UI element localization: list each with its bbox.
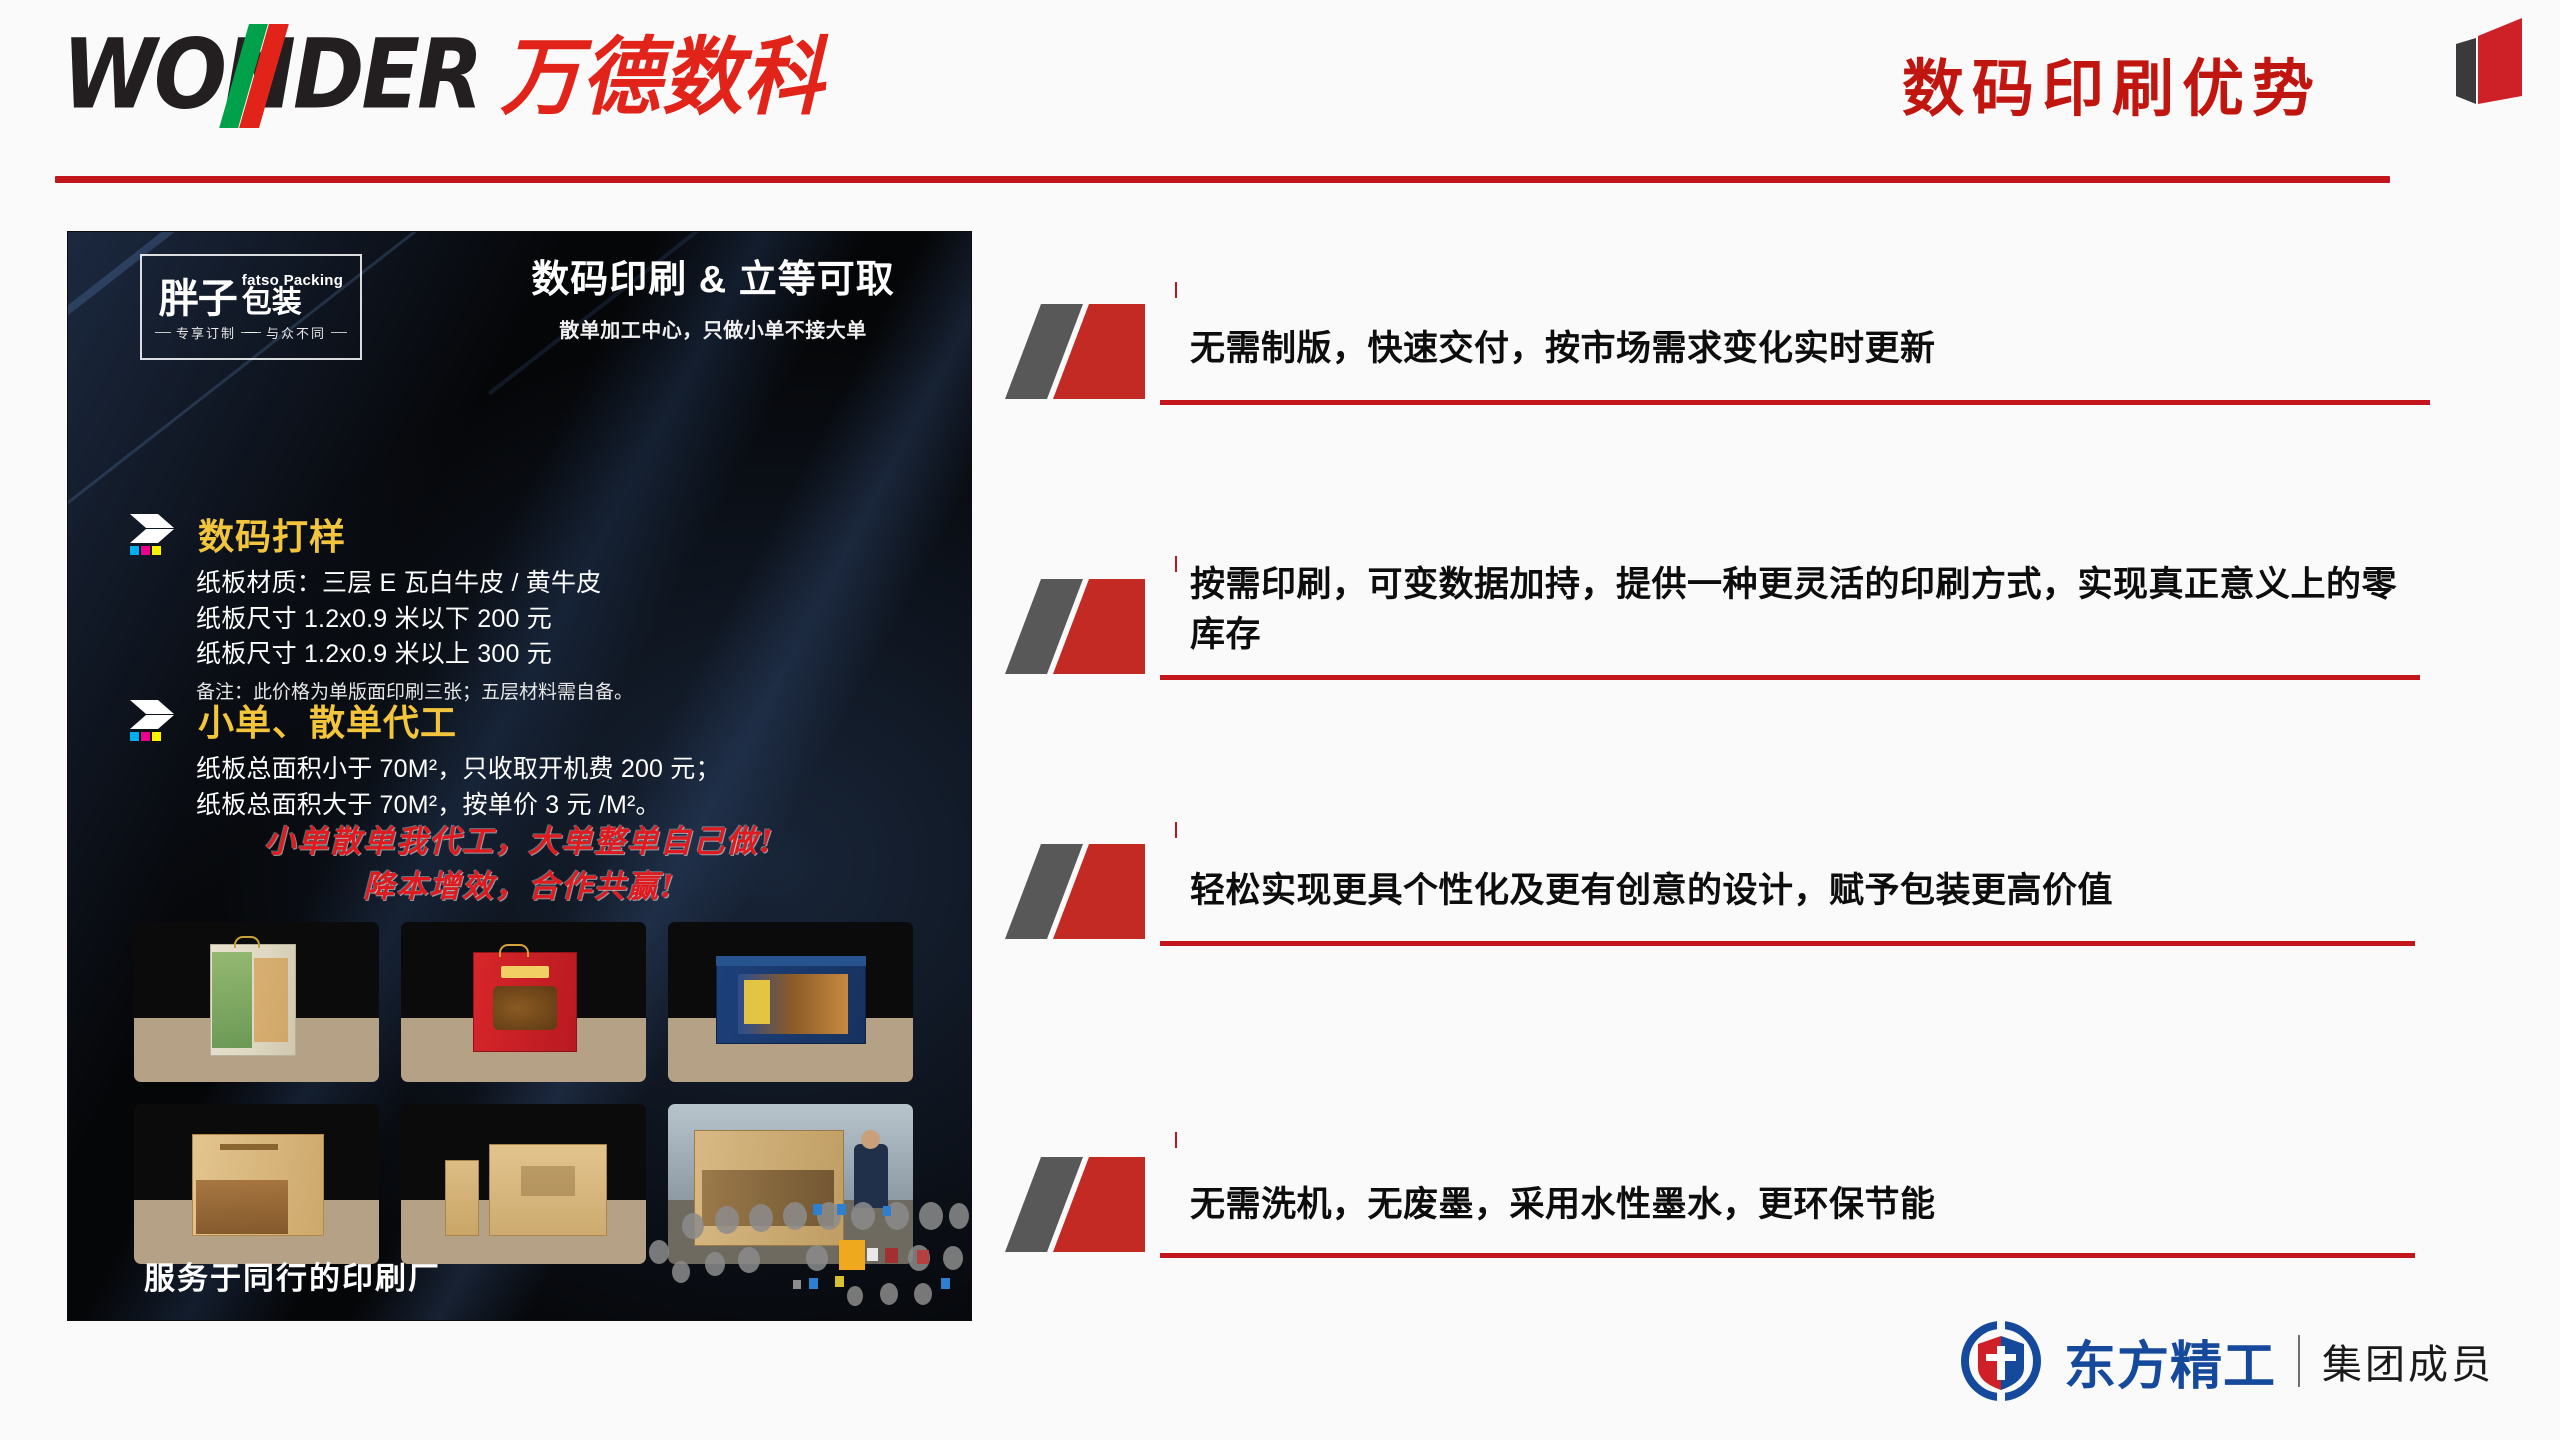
- product-photo: [401, 922, 646, 1082]
- advantage-tick: [1175, 556, 1177, 572]
- poster-slogan-line2: 降本增效，合作共赢!: [68, 865, 971, 910]
- group-member-logo: 东方精工 集团成员: [1960, 1320, 2494, 1402]
- product-photo: [668, 922, 913, 1082]
- footer-company-name: 东方精工: [2064, 1324, 2276, 1399]
- product-photo: [134, 1104, 379, 1264]
- fatso-logo-main: 胖子: [159, 280, 237, 318]
- arrow-chevron-icon: [128, 698, 180, 742]
- section-line: 纸板尺寸 1.2x0.9 米以下 200 元: [196, 602, 928, 638]
- poster-headline: 数码印刷 & 立等可取: [498, 258, 928, 304]
- section-line: 纸板尺寸 1.2x0.9 米以上 300 元: [196, 637, 928, 673]
- poster-subheadline: 散单加工中心，只做小单不接大单: [498, 314, 928, 343]
- arrow-chevron-icon: [128, 512, 180, 556]
- advantage-underline: [1160, 941, 2415, 946]
- dongfang-emblem-icon: [1960, 1320, 2042, 1402]
- poster-footer-text: 服务于同行的印刷厂: [144, 1253, 441, 1298]
- poster-slogan: 小单散单我代工，大单整单自己做! 降本增效，合作共赢!: [68, 820, 971, 910]
- double-slant-marker-icon: [1005, 1153, 1177, 1258]
- advantage-text: 按需印刷，可变数据加持，提供一种更灵活的印刷方式，实现真正意义上的零库存: [1190, 560, 2405, 659]
- company-logo: WONDER 万德数科: [62, 32, 824, 118]
- advantage-tick: [1175, 282, 1177, 298]
- product-photo: [134, 922, 379, 1082]
- advantage-underline: [1160, 400, 2430, 405]
- advantage-tick: [1175, 822, 1177, 838]
- promo-poster-image: 胖子 fatso Packing 包装 专享订制 与众不同 数码印刷 & 立等可…: [68, 232, 971, 1320]
- corner-book-icon: [2438, 0, 2538, 108]
- brand-chinese-text: 万德数科: [500, 36, 824, 121]
- poster-headline-group: 数码印刷 & 立等可取 散单加工中心，只做小单不接大单: [498, 258, 928, 343]
- poster-slogan-line1: 小单散单我代工，大单整单自己做!: [68, 820, 971, 865]
- poster-section-digital-proofing: 数码打样 纸板材质：三层 E 瓦白牛皮 / 黄牛皮 纸板尺寸 1.2x0.9 米…: [128, 508, 928, 704]
- section-title: 数码打样: [198, 508, 346, 560]
- advantage-tick: [1175, 1132, 1177, 1148]
- footer-member-label: 集团成员: [2322, 1332, 2494, 1390]
- fatso-tagline-left: 专享订制: [176, 323, 236, 342]
- double-slant-marker-icon: [1005, 840, 1177, 945]
- fatso-tagline-right: 与众不同: [266, 323, 326, 342]
- advantage-text: 轻松实现更具个性化及更有创意的设计，赋予包装更高价值: [1190, 866, 2440, 916]
- section-line: 纸板材质：三层 E 瓦白牛皮 / 黄牛皮: [196, 566, 928, 602]
- section-line: 纸板总面积大于 70M²，按单价 3 元 /M²。: [196, 788, 928, 824]
- page-title: 数码印刷优势: [1902, 38, 2322, 128]
- brand-latin-text: WONDER: [62, 27, 480, 123]
- advantage-underline: [1160, 1253, 2415, 1258]
- section-title: 小单、散单代工: [198, 694, 457, 746]
- double-slant-marker-icon: [1005, 300, 1177, 405]
- header-divider: [55, 176, 2390, 183]
- slide-root: WONDER 万德数科 数码印刷优势 胖子 fatso Packing 包装: [0, 0, 2560, 1440]
- advantage-underline: [1160, 675, 2420, 680]
- advantage-text: 无需洗机，无废墨，采用水性墨水，更环保节能: [1190, 1180, 2440, 1230]
- poster-section-small-order-oem: 小单、散单代工 纸板总面积小于 70M²，只收取开机费 200 元； 纸板总面积…: [128, 694, 928, 823]
- fatso-packing-logo: 胖子 fatso Packing 包装 专享订制 与众不同: [140, 254, 362, 360]
- product-photo: [401, 1104, 646, 1264]
- double-slant-marker-icon: [1005, 575, 1177, 680]
- section-line: 纸板总面积小于 70M²，只收取开机费 200 元；: [196, 752, 928, 788]
- footer-divider: [2298, 1335, 2300, 1387]
- advantage-text: 无需制版，快速交付，按市场需求变化实时更新: [1190, 324, 2450, 374]
- fatso-logo-sub: 包装: [242, 288, 302, 318]
- decorative-dot-pattern: [641, 1160, 971, 1320]
